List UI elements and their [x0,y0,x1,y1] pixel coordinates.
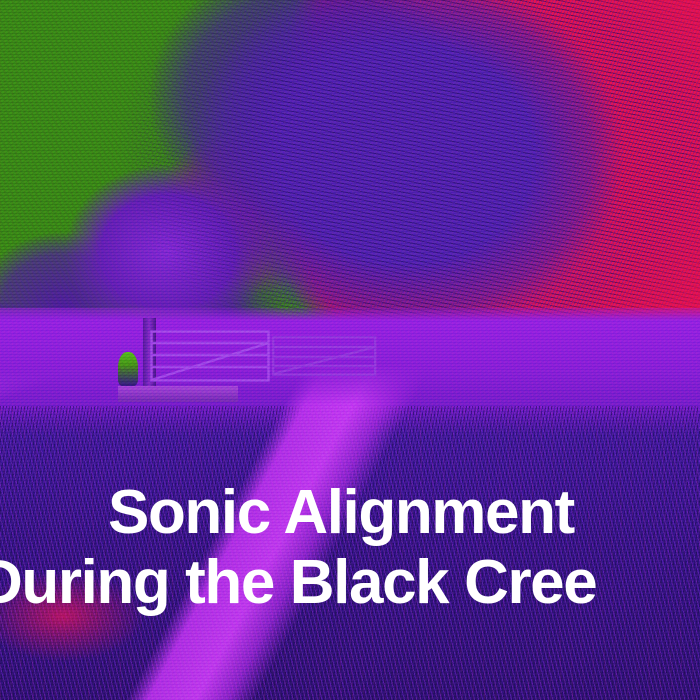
stone-plinth [118,386,238,402]
field-bank-region [0,308,700,490]
title-block: Sonic Alignment During the Black Cree [0,478,700,618]
title-line-2: During the Black Cree [0,548,700,618]
album-artwork: Sonic Alignment During the Black Cree [0,0,700,700]
field-gate-icon [150,330,270,382]
figure-shape [118,352,138,386]
title-line-1: Sonic Alignment [108,478,700,548]
field-gate-secondary-icon [272,336,377,376]
gate-post-icon [143,318,156,392]
